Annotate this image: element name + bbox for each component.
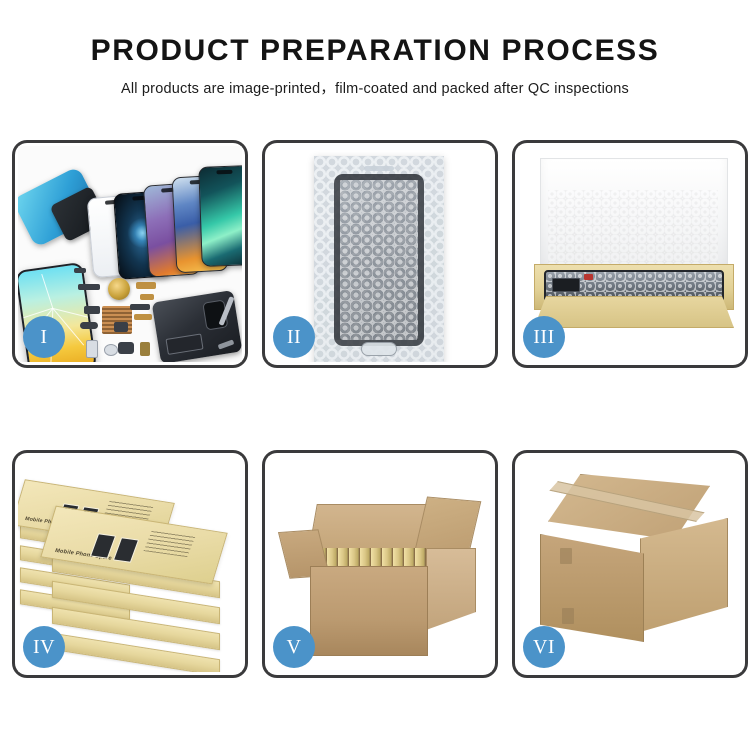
carton-tab [562,608,574,624]
spare-part [130,304,150,310]
kraft-box-front [534,296,734,328]
step-numeral: IV [33,636,55,659]
step-panel-5[interactable]: V [262,450,498,678]
step-numeral: V [287,636,302,659]
step-numeral: II [287,326,301,349]
step-panel-6[interactable]: VI [512,450,748,678]
step-badge-3: III [523,316,565,358]
step-panel-2[interactable]: II [262,140,498,368]
wrapped-phone-screen [334,174,424,346]
step-numeral: VI [533,636,555,659]
step-panel-1[interactable]: I [12,140,248,368]
step-numeral: I [40,326,47,349]
flex-cable-part [140,294,154,300]
step-badge-5: V [273,626,315,668]
spare-part [78,284,100,290]
step-badge-4: IV [23,626,65,668]
phone-screen-green-swirl [198,165,242,267]
spare-part [118,342,134,354]
bubble-wrap-film [314,156,444,362]
step-badge-2: II [273,316,315,358]
foam-padding [548,190,718,268]
spare-part [80,322,98,329]
spare-part [74,268,86,273]
spare-part [84,306,100,314]
spare-part [114,322,128,332]
page-header: PRODUCT PREPARATION PROCESS All products… [0,0,750,98]
step-badge-1: I [23,316,65,358]
flex-cable-part [134,314,152,320]
carton-tab [560,548,572,564]
step-panel-3[interactable]: III [512,140,748,368]
spare-part [140,342,150,356]
speaker-coil-part [108,278,130,300]
spare-part [86,340,98,358]
step-badge-6: VI [523,626,565,668]
flex-cable-part [136,282,156,289]
step-numeral: III [533,326,554,349]
spare-part [104,344,118,356]
page-title: PRODUCT PREPARATION PROCESS [0,34,750,67]
carton-front-panel [310,566,428,656]
process-steps-grid: I II III [12,140,738,678]
page-subtitle: All products are image-printed，film-coat… [0,77,750,98]
step-panel-4[interactable]: Mobile Phone Spare Parts Mobile Phone Sp… [12,450,248,678]
